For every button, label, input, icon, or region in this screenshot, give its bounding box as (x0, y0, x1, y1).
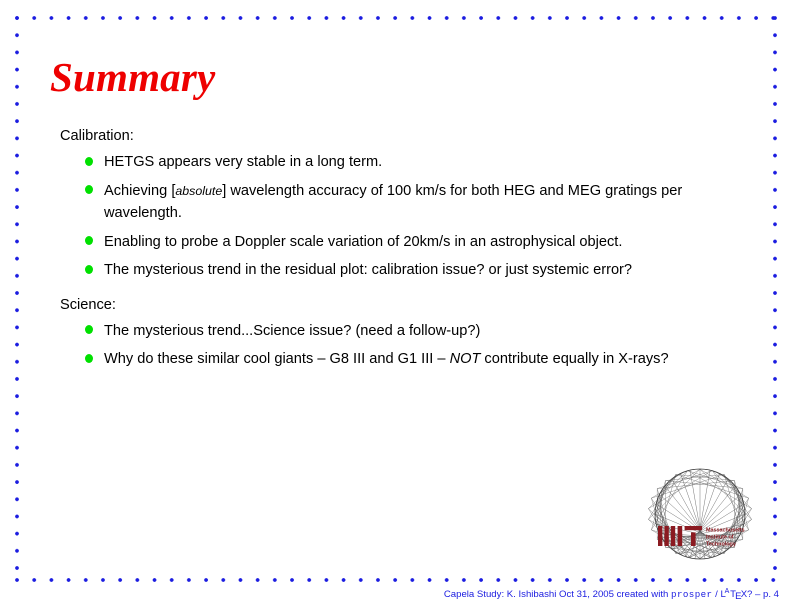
list-item: Enabling to probe a Doppler scale variat… (0, 231, 792, 254)
slide-border-top (15, 16, 777, 20)
latex-e: E (735, 591, 741, 602)
mit-logo-graphic: Massachusetts Institute of Technology (624, 452, 776, 580)
list-item-text: The mysterious trend in the residual plo… (104, 262, 632, 278)
list-item: Achieving [absolute] wavelength accuracy… (0, 180, 792, 225)
slide-content: Calibration: HETGS appears very stable i… (0, 126, 792, 371)
bullet-list-science: The mysterious trend...Science issue? (n… (0, 320, 792, 371)
footer-separator: / (715, 589, 718, 600)
list-item-text: Why do these similar cool giants – G8 II… (104, 351, 450, 367)
bullet-dot-icon (85, 157, 93, 166)
bullet-dot-icon (85, 185, 93, 194)
footer-tool: prosper (671, 589, 712, 600)
bullet-dot-icon (85, 236, 93, 245)
bullet-dot-icon (85, 325, 93, 334)
mit-logo: Massachusetts Institute of Technology (624, 452, 776, 580)
list-item-text: Enabling to probe a Doppler scale variat… (104, 234, 622, 250)
slide-footer: Capela Study: K. Ishibashi Oct 31, 2005 … (0, 585, 792, 601)
section-science: Science: The mysterious trend...Science … (0, 295, 792, 371)
footer-latex-logo: LATEX (720, 589, 747, 600)
list-item-text: The mysterious trend...Science issue? (n… (104, 323, 480, 339)
section-heading-calibration: Calibration: (60, 126, 792, 146)
footer-credit: Capela Study: K. Ishibashi Oct 31, 2005 … (444, 589, 669, 600)
mit-tagline-line2: Institute of (706, 535, 734, 541)
latex-a: A (725, 588, 729, 595)
mit-tagline: Massachusetts Institute of Technology (706, 528, 745, 548)
bullet-dot-icon (85, 265, 93, 274)
mit-tagline-line3: Technology (706, 542, 736, 548)
mit-wordmark (658, 526, 702, 546)
section-calibration: Calibration: HETGS appears very stable i… (0, 126, 792, 282)
list-item: The mysterious trend in the residual plo… (0, 259, 792, 282)
list-item-emphasis: absolute (175, 184, 222, 198)
page-title: Summary (50, 53, 215, 101)
footer-suffix: ? – p. 4 (747, 589, 779, 600)
string-art-pattern (648, 469, 751, 559)
list-item-text: HETGS appears very stable in a long term… (104, 154, 382, 170)
mit-tagline-line1: Massachusetts (706, 528, 745, 534)
list-item: Why do these similar cool giants – G8 II… (0, 348, 792, 371)
list-item-text: Achieving [ (104, 183, 175, 199)
slide-canvas: Summary Calibration: HETGS appears very … (0, 0, 792, 612)
section-heading-science: Science: (60, 295, 792, 315)
list-item-text-cont: contribute equally in X-rays? (480, 351, 668, 367)
bullet-list-calibration: HETGS appears very stable in a long term… (0, 151, 792, 282)
list-item: HETGS appears very stable in a long term… (0, 151, 792, 174)
list-item-emphasis: NOT (450, 351, 481, 367)
list-item: The mysterious trend...Science issue? (n… (0, 320, 792, 343)
bullet-dot-icon (85, 354, 93, 363)
